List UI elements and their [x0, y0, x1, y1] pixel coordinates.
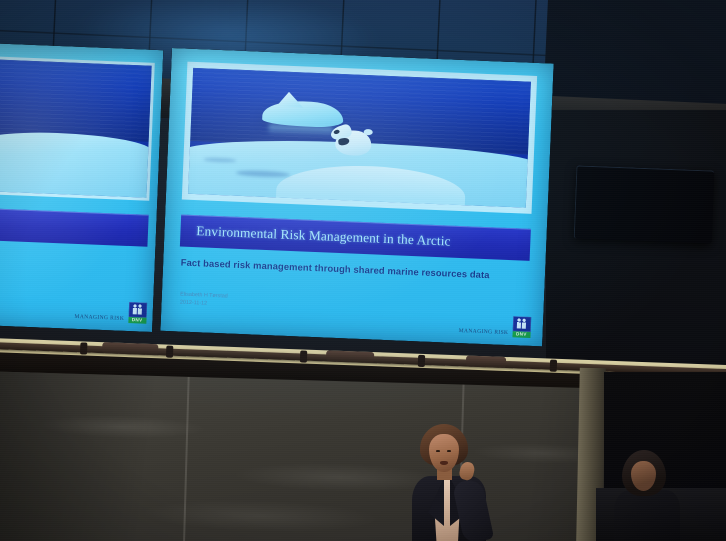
slide-date: 2012-11-12	[180, 299, 228, 309]
managing-risk-tagline: MANAGING RISK	[74, 313, 124, 322]
slide-photo-polar-bear	[188, 68, 531, 208]
rail-block	[326, 350, 374, 363]
projection-screens: e Arctic ources data MANAGING RISK DNV	[0, 0, 726, 400]
dnv-anchor-mark-icon	[512, 316, 531, 332]
main-projection-screen: Environmental Risk Management in the Arc…	[160, 48, 553, 346]
polar-bear-mouth	[338, 137, 349, 145]
managing-risk-tagline: MANAGING RISK	[458, 328, 508, 337]
dnv-logo-icon: DNV	[128, 302, 147, 324]
slide-title: Environmental Risk Management in the Arc…	[180, 222, 451, 249]
dnv-figure-right-icon	[522, 319, 526, 329]
dnv-figure-left-icon	[133, 304, 137, 314]
slide-title-band: Environmental Risk Management in the Arc…	[180, 214, 531, 261]
rail-clip	[166, 346, 173, 358]
presenter	[398, 424, 538, 541]
left-slide-title-band: e Arctic	[0, 207, 148, 247]
rail-clip	[80, 342, 87, 354]
dnv-wordmark: DNV	[512, 331, 530, 338]
left-slide: e Arctic ources data MANAGING RISK DNV	[0, 42, 163, 332]
rail-clip	[418, 355, 425, 367]
snow-field	[0, 130, 151, 198]
dnv-logo-icon: DNV	[512, 316, 531, 338]
presenter-face	[429, 434, 459, 472]
presenter-eye	[436, 450, 440, 452]
presenter-eye	[447, 450, 451, 452]
lecture-hall-photo: e Arctic ources data MANAGING RISK DNV	[0, 0, 726, 541]
sea	[0, 59, 151, 142]
dnv-anchor-mark-icon	[128, 302, 147, 318]
dnv-wordmark: DNV	[128, 317, 146, 324]
slide-subtitle: Fact based risk management through share…	[181, 257, 490, 281]
main-screen-surface: Environmental Risk Management in the Arc…	[160, 48, 553, 346]
sea-scanline-texture	[0, 59, 151, 142]
slide-byline: Elisabeth H Tørstad 2012-11-12	[180, 291, 228, 310]
polar-bear-ear	[363, 129, 372, 135]
left-slide-photo-frame	[0, 55, 154, 200]
dnv-figure-right-icon	[138, 304, 142, 314]
slide-photo-frame	[182, 61, 537, 214]
left-slide-footer: MANAGING RISK DNV	[74, 299, 147, 323]
polar-bear	[332, 124, 374, 158]
rail-clip	[550, 360, 557, 372]
left-screen-surface: e Arctic ources data MANAGING RISK DNV	[0, 42, 163, 332]
rail-clip	[300, 350, 307, 362]
presenter-mouth	[440, 461, 448, 465]
rail-block	[102, 342, 158, 355]
audience-member-torso	[614, 490, 680, 541]
slide-footer: MANAGING RISK DNV	[458, 314, 531, 338]
rail-block	[466, 356, 506, 368]
left-projection-screen: e Arctic ources data MANAGING RISK DNV	[0, 42, 163, 332]
dnv-figure-left-icon	[517, 318, 521, 328]
title-slide: Environmental Risk Management in the Arc…	[160, 48, 553, 346]
left-slide-photo	[0, 59, 151, 198]
audience-member	[608, 450, 688, 541]
